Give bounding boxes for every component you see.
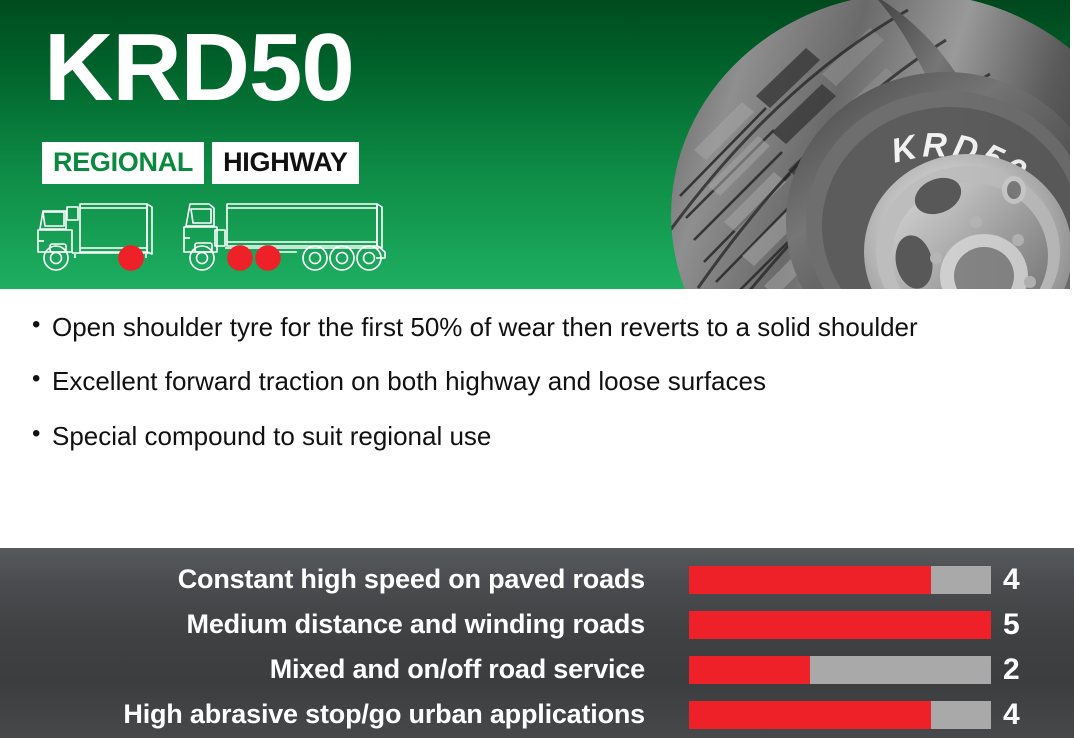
badge-regional: REGIONAL — [42, 142, 204, 184]
rating-value: 5 — [1003, 610, 1043, 640]
rating-bar-fill — [689, 566, 931, 594]
table-row: Mixed and on/off road service 2 — [0, 649, 1074, 690]
rating-value: 4 — [1003, 565, 1043, 595]
features-section: Open shoulder tyre for the first 50% of … — [0, 289, 1074, 548]
list-item: Special compound to suit regional use — [30, 420, 950, 453]
header-banner: KRD50 REGIONAL HIGHWAY — [0, 0, 1070, 289]
table-row: Medium distance and winding roads 5 — [0, 604, 1074, 645]
articulated-truck-trailer-icon — [179, 196, 397, 276]
rating-bar-track — [689, 566, 991, 594]
rating-bar-fill — [689, 701, 931, 729]
rigid-truck-icon — [34, 196, 165, 276]
rating-label: Medium distance and winding roads — [0, 611, 645, 638]
category-badges: REGIONAL HIGHWAY — [42, 142, 359, 184]
rating-bar-track — [689, 611, 991, 639]
product-sheet-page: KRD50 REGIONAL HIGHWAY — [0, 0, 1074, 738]
rating-label: High abrasive stop/go urban applications — [0, 701, 645, 728]
rating-value: 4 — [1003, 700, 1043, 730]
suitability-ratings-panel: Constant high speed on paved roads 4 Med… — [0, 548, 1074, 738]
feature-bullet-list: Open shoulder tyre for the first 50% of … — [30, 311, 950, 474]
table-row: Constant high speed on paved roads 4 — [0, 559, 1074, 600]
rating-bar-track — [689, 701, 991, 729]
table-row: High abrasive stop/go urban applications… — [0, 694, 1074, 735]
list-item: Excellent forward traction on both highw… — [30, 365, 950, 398]
application-truck-icons — [34, 196, 397, 276]
rating-label: Mixed and on/off road service — [0, 656, 645, 683]
list-item: Open shoulder tyre for the first 50% of … — [30, 311, 950, 344]
tyre-photo: KRD50 — [646, 0, 1070, 289]
rating-label: Constant high speed on paved roads — [0, 566, 645, 593]
rating-value: 2 — [1003, 655, 1043, 685]
rating-bar-fill — [689, 656, 810, 684]
rating-bar-fill — [689, 611, 991, 639]
rating-bar-track — [689, 656, 991, 684]
page-title: KRD50 — [44, 18, 354, 119]
badge-highway: HIGHWAY — [212, 142, 358, 184]
